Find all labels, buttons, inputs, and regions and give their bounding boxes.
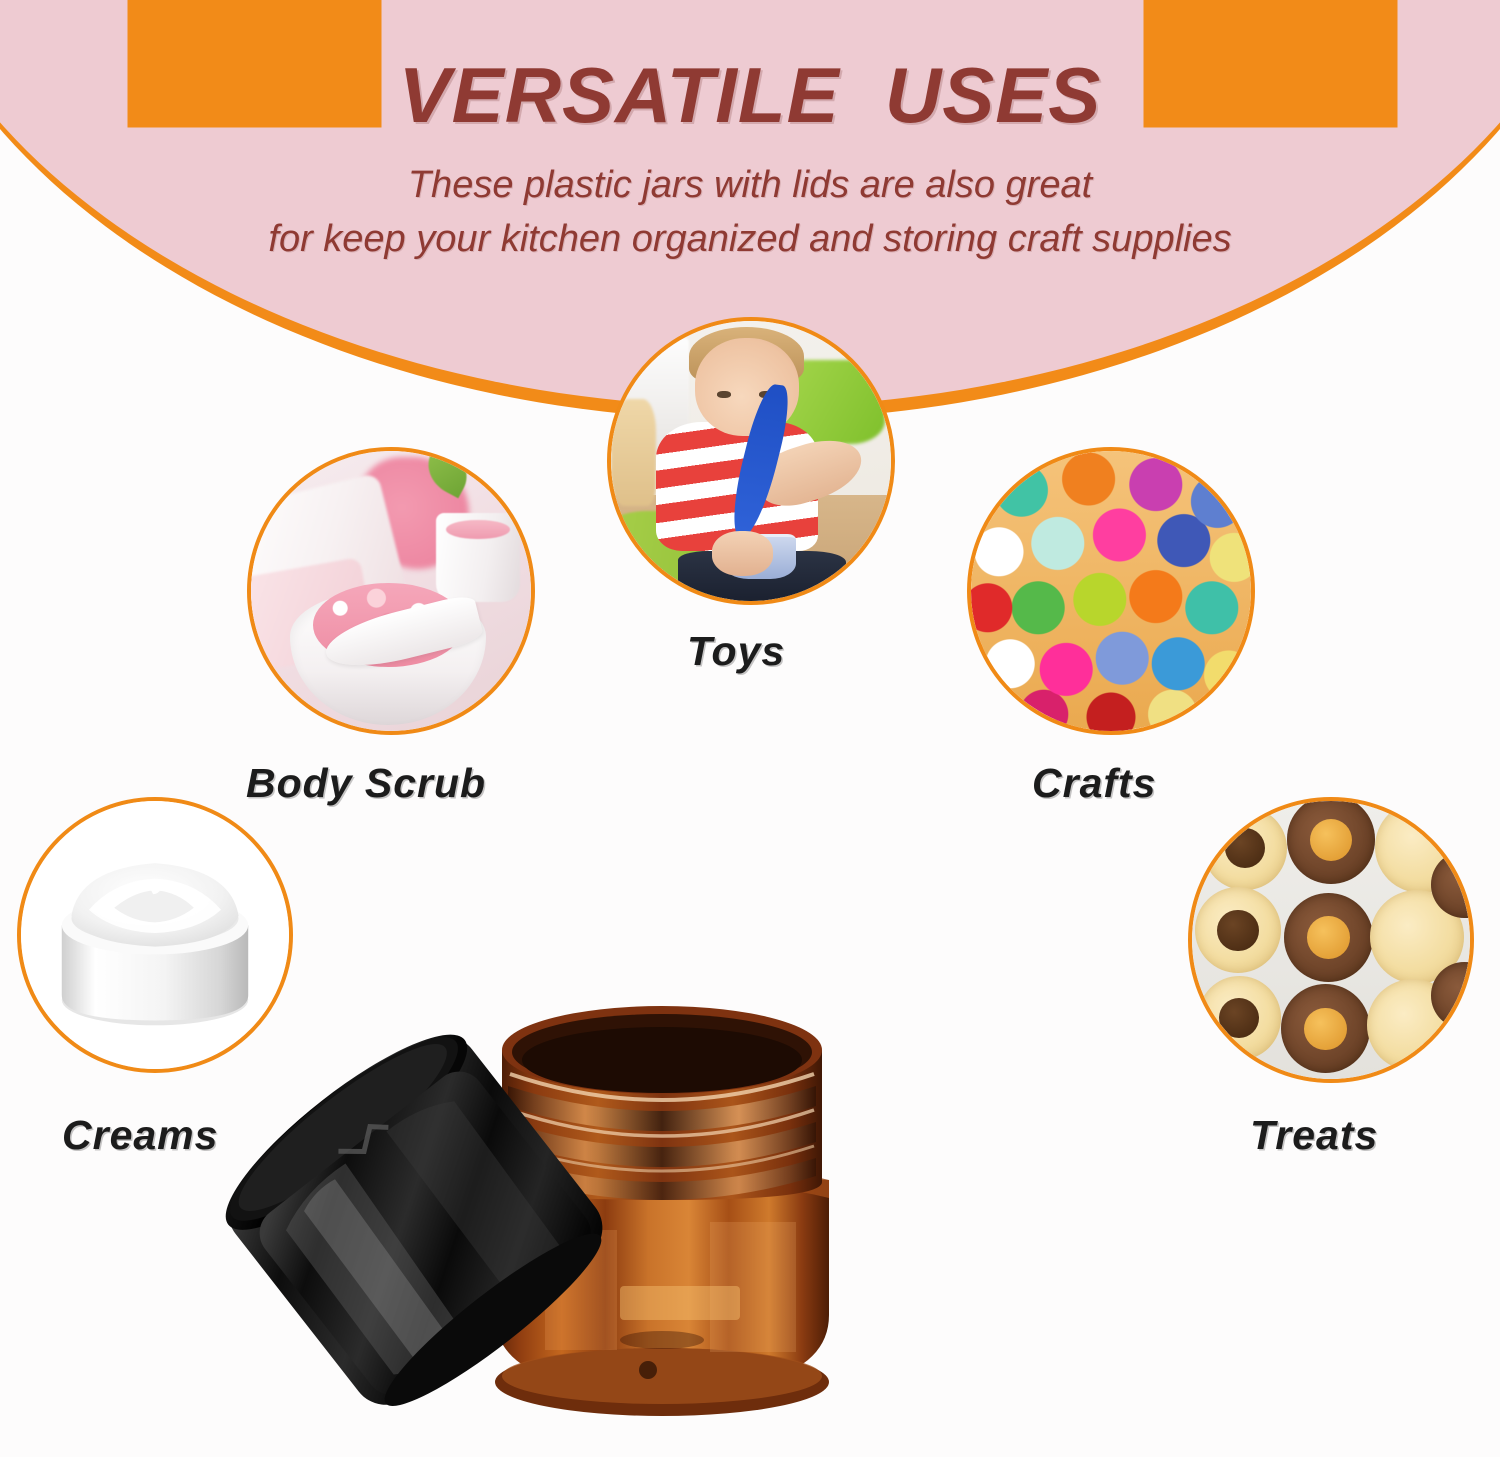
feature-circle-creams: [17, 797, 293, 1073]
product-jar-image: [150, 930, 1150, 1457]
amber-jar-illustration: [150, 930, 1150, 1457]
infographic-page: VERSATILE USES These plastic jars with l…: [0, 0, 1500, 1457]
subtitle-line-1: These plastic jars with lids are also gr…: [0, 159, 1500, 213]
feature-circle-treats: [1188, 797, 1474, 1083]
feature-label-crafts: Crafts: [1032, 760, 1156, 807]
feature-label-creams: Creams: [62, 1112, 218, 1159]
creams-photo: [21, 801, 289, 1069]
header-section: VERSATILE USES These plastic jars with l…: [0, 0, 1500, 340]
feature-label-toys: Toys: [687, 628, 785, 675]
treats-photo: [1192, 801, 1470, 1079]
page-subtitle: These plastic jars with lids are also gr…: [0, 141, 1500, 267]
subtitle-line-2: for keep your kitchen organized and stor…: [0, 213, 1500, 267]
toys-photo: [611, 321, 891, 601]
crafts-photo: [971, 451, 1251, 731]
feature-circle-body-scrub: [247, 447, 535, 735]
page-title: VERSATILE USES: [0, 0, 1500, 141]
feature-label-treats: Treats: [1250, 1112, 1378, 1159]
feature-circle-toys: [607, 317, 895, 605]
body-scrub-photo: [251, 451, 531, 731]
feature-label-body-scrub: Body Scrub: [246, 760, 486, 807]
feature-circle-crafts: [967, 447, 1255, 735]
cream-jar-illustration: [21, 801, 289, 1069]
